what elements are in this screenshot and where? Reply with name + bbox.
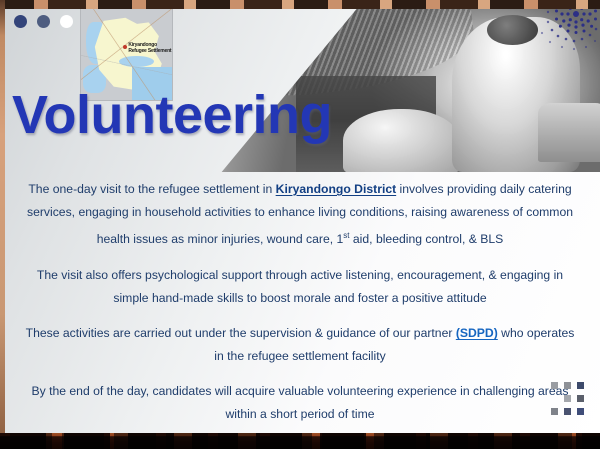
body-text-area: The one-day visit to the refugee settlem… — [0, 178, 600, 426]
paragraph-four: By the end of the day, candidates will a… — [24, 380, 576, 426]
square-9 — [577, 408, 584, 415]
sack-shape — [343, 109, 460, 175]
square-6 — [577, 395, 584, 402]
square-1 — [551, 382, 558, 389]
square-7 — [551, 408, 558, 415]
slide-canvas: Kiryandongo Refugee Settlement Volunteer… — [0, 0, 600, 449]
para1-text-before: The one-day visit to the refugee settlem… — [28, 182, 275, 196]
top-left-dots — [14, 15, 73, 28]
paragraph-two: The visit also offers psychological supp… — [24, 264, 576, 310]
sack-secondary-shape — [538, 103, 600, 162]
square-8 — [564, 408, 571, 415]
sdpd-partner-link[interactable]: (SDPD) — [456, 326, 498, 340]
page-title: Volunteering — [12, 88, 332, 142]
square-2 — [564, 382, 571, 389]
square-3 — [577, 382, 584, 389]
dot-navy-icon — [14, 15, 27, 28]
kiryandongo-district-link[interactable]: Kiryandongo District — [276, 182, 397, 196]
para3-text-before: These activities are carried out under t… — [26, 326, 456, 340]
dot-slate-icon — [37, 15, 50, 28]
paragraph-one: The one-day visit to the refugee settlem… — [24, 178, 576, 251]
square-4-empty — [551, 395, 558, 402]
top-photo-strip — [0, 0, 600, 9]
square-5 — [564, 395, 571, 402]
bottom-photo-strip — [0, 433, 600, 449]
paragraph-three: These activities are carried out under t… — [24, 322, 576, 368]
square-grid-decoration — [551, 382, 584, 415]
map-location-label: Kiryandongo Refugee Settlement — [128, 42, 172, 54]
left-photo-strip — [0, 0, 5, 449]
dot-white-icon — [60, 15, 73, 28]
para1-text-after: aid, bleeding control, & BLS — [350, 232, 504, 246]
